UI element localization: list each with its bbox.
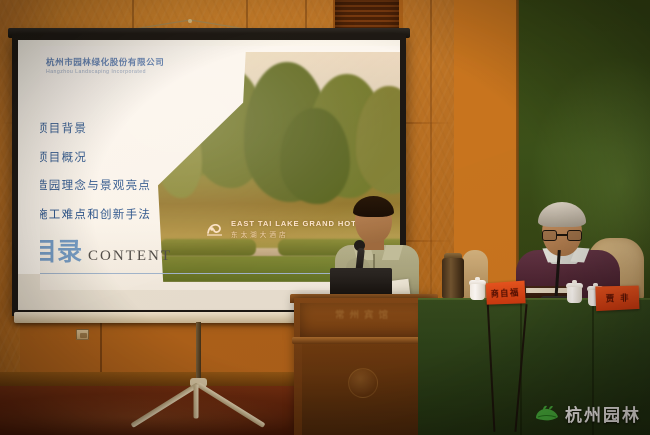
thermos-flask xyxy=(442,258,464,298)
podium-molding xyxy=(292,337,436,344)
nameplate-right: 贾 非 xyxy=(595,286,639,312)
agenda-item: 项目概况 xyxy=(40,149,151,165)
agenda-item: 项目背景 xyxy=(40,120,151,136)
section-title-en: CONTENT xyxy=(88,248,172,265)
agenda-item: 施工难点和创新手法 xyxy=(40,206,151,222)
nameplate-left: 商自福 xyxy=(486,281,526,305)
slide-agenda-list: 项目背景 项目概况 造园理念与景观亮点 施工难点和创新手法 xyxy=(40,120,151,234)
leaf-icon xyxy=(534,404,560,424)
agenda-item: 造园理念与景观亮点 xyxy=(40,177,151,193)
teacup xyxy=(566,281,583,303)
slide-section-title: 目录 CONTENT xyxy=(40,232,172,268)
conference-room-photo: 杭州市园林绿化股份有限公司 Hangzhou Landscaping Incor… xyxy=(0,0,650,435)
tripod-center-post xyxy=(196,322,201,382)
watermark-text: 杭州园林 xyxy=(565,401,641,426)
watermark: 杭州园林 xyxy=(534,401,641,426)
section-title-cn: 目录 xyxy=(40,232,82,268)
glasses-bridge xyxy=(557,234,567,236)
eyeglasses-icon xyxy=(542,230,582,241)
podium-emblem-icon xyxy=(348,368,378,398)
teacup xyxy=(469,278,486,300)
teacup-body xyxy=(567,287,582,303)
tripod-leg xyxy=(194,385,199,419)
glasses-lens-right xyxy=(567,230,582,241)
nameplate-right-text: 贾 非 xyxy=(606,292,631,305)
speaker-hair xyxy=(353,196,394,217)
teacup-body xyxy=(470,284,485,300)
nameplate-left-text: 商自福 xyxy=(491,286,521,300)
podium-venue-text: 常州宾馆 xyxy=(300,307,428,321)
seated-gray-hair xyxy=(538,202,586,227)
wall-outlet xyxy=(76,329,89,340)
wall-seam xyxy=(430,0,432,300)
teacup-knob xyxy=(572,280,577,284)
glasses-lens-left xyxy=(542,230,557,241)
teacup-knob xyxy=(475,277,480,281)
